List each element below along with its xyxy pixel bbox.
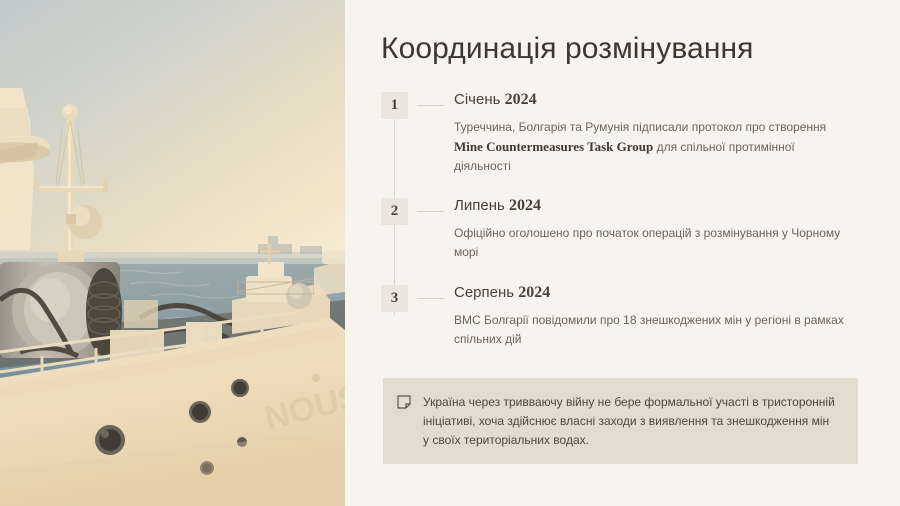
note-icon bbox=[397, 395, 411, 409]
timeline-item-2: 2 Липень 2024 Офіційно оголошено про поч… bbox=[381, 196, 871, 262]
timeline-body-highlight: Mine Countermeasures Task Group bbox=[454, 139, 653, 154]
timeline-body: Туреччина, Болгарія та Румунія підписали… bbox=[454, 118, 854, 176]
timeline-dash bbox=[417, 105, 444, 106]
timeline-body: Офіційно оголошено про початок операцій … bbox=[454, 224, 854, 262]
timeline-date: Січень 2024 bbox=[454, 90, 871, 110]
content-panel: Координація розмінування 1 Січень 2024 Т… bbox=[345, 0, 900, 506]
timeline-body: ВМС Болгарії повідомили про 18 знешкодже… bbox=[454, 311, 854, 349]
timeline-date: Липень 2024 bbox=[454, 196, 871, 216]
callout-box: Україна через тривваючу війну не бере фо… bbox=[383, 378, 858, 464]
timeline-month: Серпень bbox=[454, 284, 514, 301]
timeline-number-badge: 1 bbox=[381, 92, 408, 119]
page-title: Координація розмінування bbox=[381, 32, 754, 66]
timeline-year: 2024 bbox=[505, 91, 537, 108]
timeline-number-badge: 2 bbox=[381, 198, 408, 225]
timeline-body-before: ВМС Болгарії повідомили про 18 знешкодже… bbox=[454, 313, 844, 346]
timeline-year: 2024 bbox=[509, 197, 541, 214]
timeline-month: Липень bbox=[454, 197, 505, 214]
timeline-month: Січень bbox=[454, 91, 500, 108]
timeline-item-1: 1 Січень 2024 Туреччина, Болгарія та Рум… bbox=[381, 90, 871, 176]
timeline-year: 2024 bbox=[518, 284, 550, 301]
timeline-body-before: Туреччина, Болгарія та Румунія підписали… bbox=[454, 120, 826, 134]
timeline: 1 Січень 2024 Туреччина, Болгарія та Рум… bbox=[381, 90, 871, 349]
timeline-dash bbox=[417, 211, 444, 212]
timeline-item-3: 3 Серпень 2024 ВМС Болгарії повідомили п… bbox=[381, 283, 871, 349]
slide: NOUS Координація розмі bbox=[0, 0, 900, 506]
timeline-body-before: Офіційно оголошено про початок операцій … bbox=[454, 226, 840, 259]
callout-text: Україна через тривваючу війну не бере фо… bbox=[423, 393, 838, 450]
timeline-dash bbox=[417, 298, 444, 299]
ship-photo-illustration: NOUS bbox=[0, 0, 345, 506]
timeline-number-badge: 3 bbox=[381, 285, 408, 312]
slide-photo: NOUS bbox=[0, 0, 345, 506]
timeline-date: Серпень 2024 bbox=[454, 283, 871, 303]
